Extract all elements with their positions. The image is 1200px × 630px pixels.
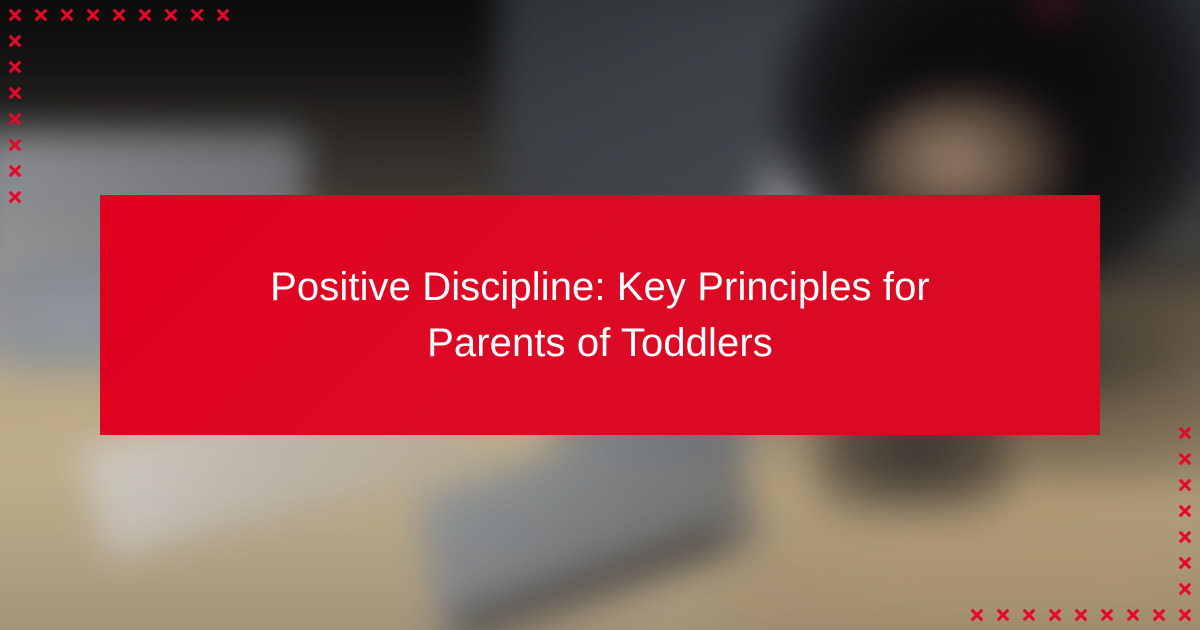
- title-banner: Positive Discipline: Key Principles for …: [100, 195, 1100, 435]
- title-line-2: Parents of Toddlers: [427, 321, 773, 365]
- title-line-1: Positive Discipline: Key Principles for: [270, 265, 930, 309]
- social-share-card: Positive Discipline: Key Principles for …: [0, 0, 1200, 630]
- page-title: Positive Discipline: Key Principles for …: [270, 259, 930, 371]
